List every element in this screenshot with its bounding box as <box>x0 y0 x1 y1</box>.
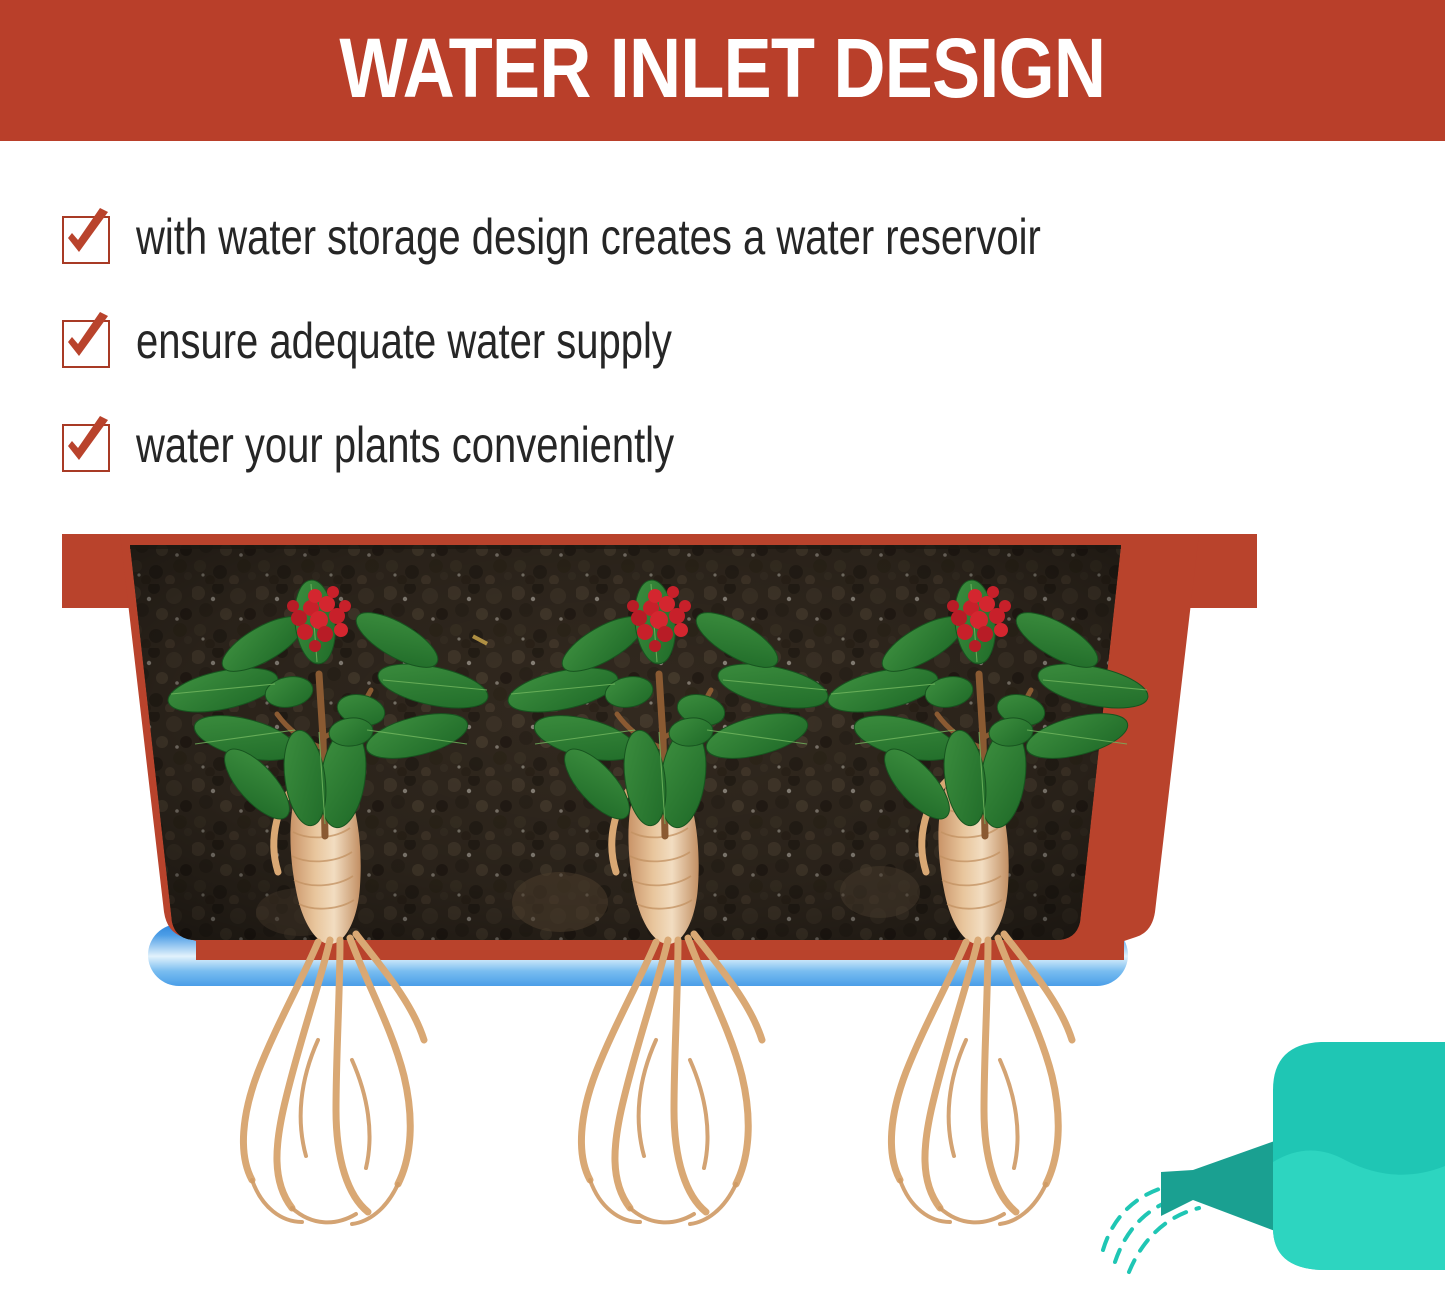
list-item-label: water your plants conveniently <box>136 418 674 473</box>
berry-cluster <box>287 586 351 652</box>
ginseng-plant-right <box>825 578 1155 838</box>
plant-leaves <box>824 578 1151 830</box>
product-illustration <box>0 520 1445 1306</box>
ginseng-plant-left <box>165 578 495 838</box>
list-item-label: ensure adequate water supply <box>136 314 672 369</box>
list-item: ensure adequate water supply <box>56 289 1436 393</box>
watering-can-body <box>1273 1042 1445 1270</box>
checkbox-check-icon <box>56 312 114 370</box>
list-item: water your plants conveniently <box>56 393 1436 497</box>
berry-cluster <box>627 586 691 652</box>
checkbox-check-icon <box>56 208 114 266</box>
infographic-page: WATER INLET DESIGN with water storage de… <box>0 0 1445 1306</box>
page-title: WATER INLET DESIGN <box>340 26 1106 116</box>
list-item: with water storage design creates a wate… <box>56 185 1436 289</box>
feature-list: with water storage design creates a wate… <box>56 185 1436 497</box>
berry-cluster <box>947 586 1011 652</box>
plant-leaves <box>504 578 831 830</box>
watering-can <box>1095 1020 1445 1306</box>
list-item-label: with water storage design creates a wate… <box>136 210 1041 265</box>
watering-can-spout <box>1161 1138 1283 1234</box>
plant-leaves <box>164 578 491 830</box>
checkbox-check-icon <box>56 416 114 474</box>
header-banner: WATER INLET DESIGN <box>0 0 1445 141</box>
ginseng-plant-center <box>505 578 835 838</box>
